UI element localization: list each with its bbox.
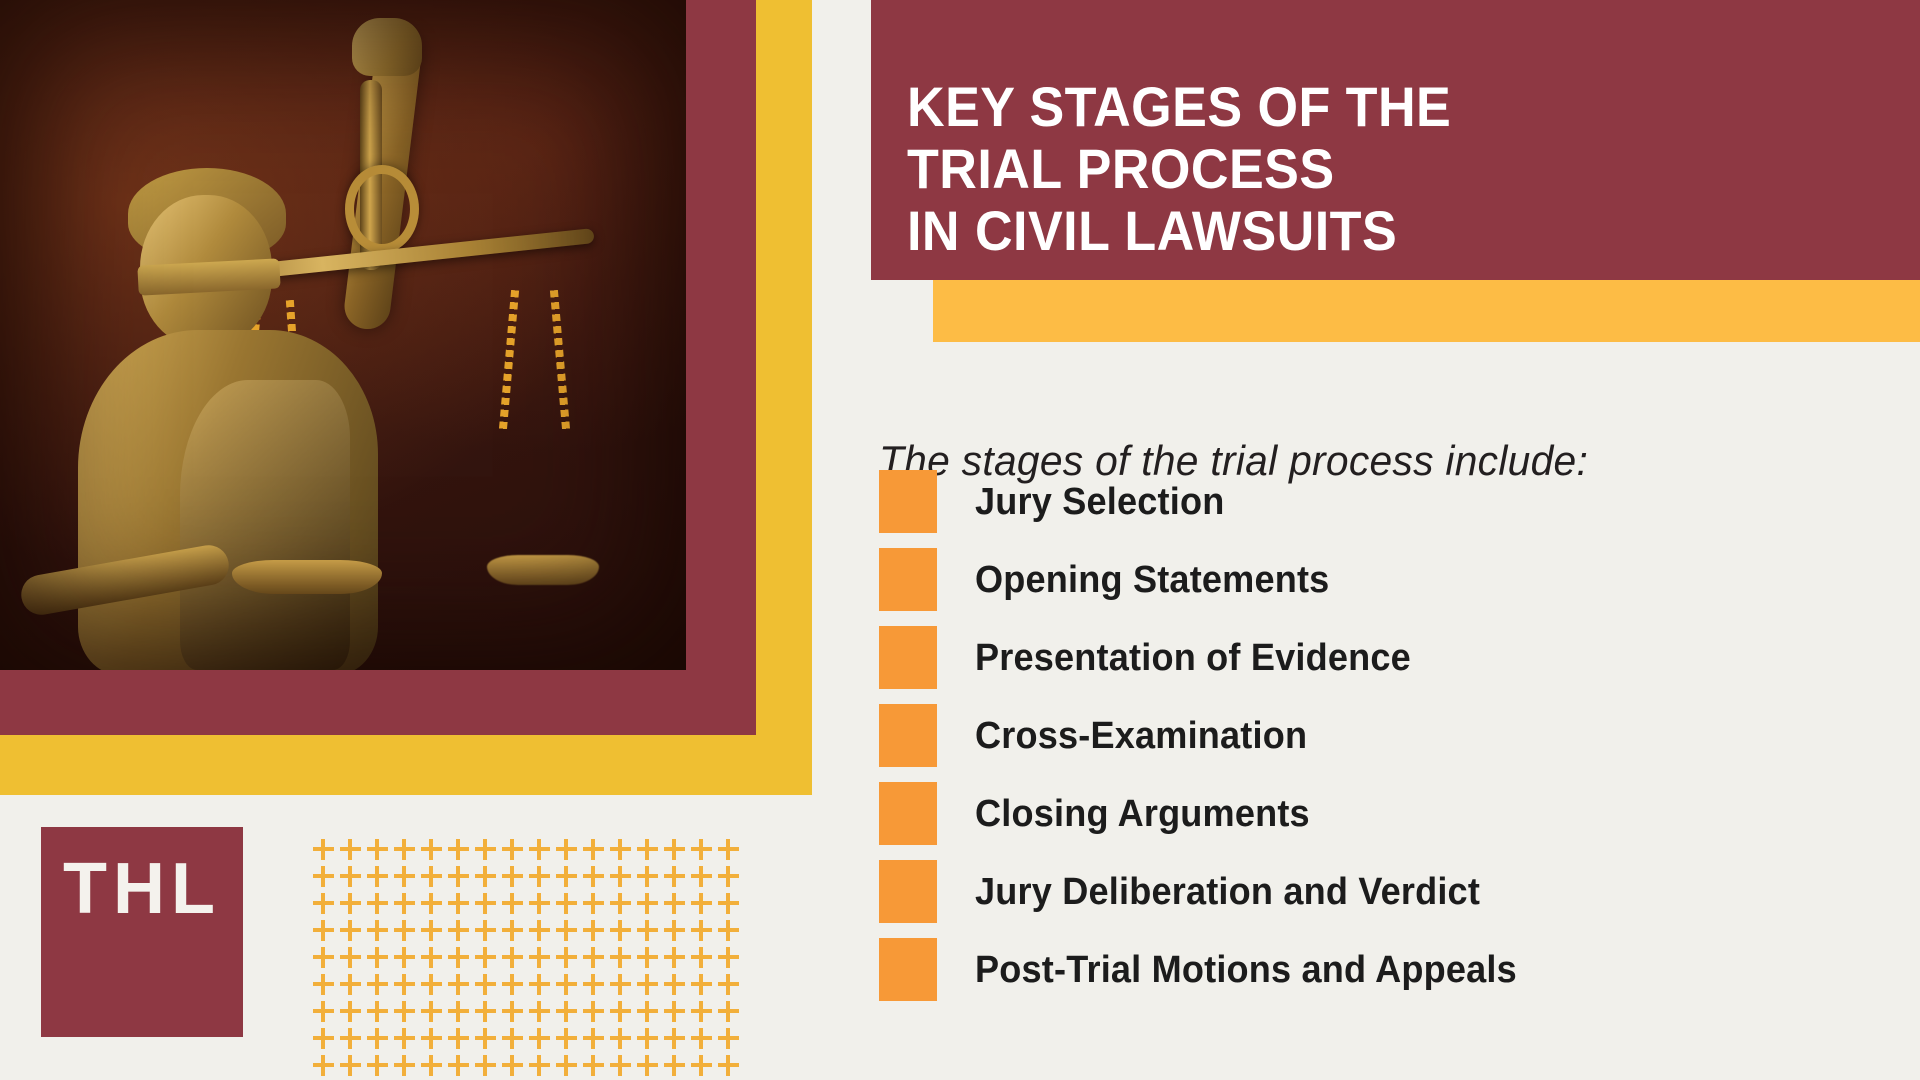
list-item: Cross-Examination bbox=[879, 704, 1889, 767]
plus-icon bbox=[609, 838, 636, 865]
plus-icon bbox=[636, 1027, 663, 1054]
plus-icon bbox=[447, 1054, 474, 1080]
plus-icon bbox=[312, 973, 339, 1000]
plus-icon bbox=[312, 838, 339, 865]
plus-icon bbox=[609, 1027, 636, 1054]
plus-icon bbox=[717, 1054, 744, 1080]
plus-icon bbox=[555, 1027, 582, 1054]
plus-icon bbox=[528, 892, 555, 919]
bullet-square-icon bbox=[879, 548, 937, 611]
bullet-square-icon bbox=[879, 470, 937, 533]
plus-icon bbox=[582, 919, 609, 946]
plus-icon bbox=[366, 838, 393, 865]
bullet-square-icon bbox=[879, 626, 937, 689]
plus-icon bbox=[528, 1054, 555, 1080]
bullet-square-icon bbox=[879, 938, 937, 1001]
plus-icon bbox=[339, 1054, 366, 1080]
plus-icon bbox=[339, 946, 366, 973]
plus-icon bbox=[528, 946, 555, 973]
list-item-label: Jury Deliberation and Verdict bbox=[975, 873, 1480, 911]
plus-icon bbox=[555, 919, 582, 946]
plus-icon bbox=[555, 1000, 582, 1027]
page-title-line-1: KEY STAGES OF THE bbox=[907, 76, 1837, 138]
list-item: Jury Selection bbox=[879, 470, 1889, 533]
plus-icon bbox=[690, 892, 717, 919]
list-item-label: Jury Selection bbox=[975, 483, 1224, 521]
page-title-line-2: TRIAL PROCESS bbox=[907, 138, 1837, 200]
plus-icon bbox=[393, 973, 420, 1000]
plus-icon bbox=[339, 838, 366, 865]
plus-icon bbox=[636, 946, 663, 973]
plus-icon bbox=[474, 1000, 501, 1027]
plus-icon bbox=[447, 973, 474, 1000]
plus-icon bbox=[312, 892, 339, 919]
plus-icon bbox=[474, 838, 501, 865]
plus-icon bbox=[690, 838, 717, 865]
plus-icon bbox=[501, 946, 528, 973]
plus-icon bbox=[474, 973, 501, 1000]
plus-icon bbox=[420, 919, 447, 946]
plus-icon bbox=[663, 919, 690, 946]
plus-icon bbox=[366, 1054, 393, 1080]
plus-icon bbox=[663, 1054, 690, 1080]
plus-icon bbox=[420, 1054, 447, 1080]
plus-icon bbox=[312, 946, 339, 973]
plus-icon bbox=[609, 865, 636, 892]
plus-icon bbox=[366, 946, 393, 973]
plus-icon bbox=[717, 919, 744, 946]
plus-icon bbox=[447, 1000, 474, 1027]
plus-icon bbox=[528, 973, 555, 1000]
plus-icon bbox=[528, 1027, 555, 1054]
thl-logo[interactable]: THL bbox=[41, 827, 243, 1037]
page-title: KEY STAGES OF THE TRIAL PROCESS IN CIVIL… bbox=[907, 76, 1837, 262]
plus-icon bbox=[339, 1000, 366, 1027]
plus-icon bbox=[366, 1000, 393, 1027]
plus-icon bbox=[717, 1000, 744, 1027]
list-item-label: Presentation of Evidence bbox=[975, 639, 1411, 677]
list-item-label: Cross-Examination bbox=[975, 717, 1307, 755]
page-title-line-3: IN CIVIL LAWSUITS bbox=[907, 200, 1837, 262]
plus-icon bbox=[312, 1000, 339, 1027]
plus-icon bbox=[636, 865, 663, 892]
plus-icon bbox=[582, 1054, 609, 1080]
plus-icon bbox=[717, 973, 744, 1000]
plus-icon bbox=[366, 973, 393, 1000]
plus-icon bbox=[717, 892, 744, 919]
plus-icon bbox=[690, 1054, 717, 1080]
plus-icon bbox=[420, 838, 447, 865]
plus-icon bbox=[447, 946, 474, 973]
list-item: Jury Deliberation and Verdict bbox=[879, 860, 1889, 923]
plus-icon bbox=[528, 838, 555, 865]
plus-icon bbox=[663, 838, 690, 865]
plus-icon bbox=[447, 1027, 474, 1054]
plus-icon bbox=[501, 1054, 528, 1080]
list-item-label: Closing Arguments bbox=[975, 795, 1310, 833]
plus-icon bbox=[474, 919, 501, 946]
plus-icon bbox=[582, 865, 609, 892]
plus-icon bbox=[393, 919, 420, 946]
plus-icon bbox=[582, 838, 609, 865]
plus-icon bbox=[393, 1054, 420, 1080]
plus-icon bbox=[420, 1027, 447, 1054]
plus-icon bbox=[501, 973, 528, 1000]
plus-icon bbox=[555, 946, 582, 973]
plus-icon bbox=[501, 919, 528, 946]
plus-icon bbox=[420, 946, 447, 973]
plus-icon bbox=[393, 946, 420, 973]
plus-icon bbox=[609, 892, 636, 919]
plus-icon bbox=[312, 865, 339, 892]
plus-icon bbox=[609, 919, 636, 946]
plus-icon bbox=[636, 892, 663, 919]
plus-icon bbox=[474, 1027, 501, 1054]
plus-icon bbox=[690, 865, 717, 892]
plus-icon bbox=[717, 838, 744, 865]
plus-icon bbox=[717, 1027, 744, 1054]
plus-icon bbox=[609, 1054, 636, 1080]
plus-icon bbox=[609, 946, 636, 973]
plus-icon bbox=[582, 1000, 609, 1027]
plus-icon bbox=[690, 946, 717, 973]
plus-icon bbox=[528, 919, 555, 946]
list-item: Post-Trial Motions and Appeals bbox=[879, 938, 1889, 1001]
plus-icon bbox=[339, 1027, 366, 1054]
plus-icon bbox=[663, 946, 690, 973]
list-item: Closing Arguments bbox=[879, 782, 1889, 845]
plus-icon bbox=[690, 973, 717, 1000]
plus-icon bbox=[636, 973, 663, 1000]
plus-icon bbox=[447, 892, 474, 919]
plus-icon bbox=[366, 919, 393, 946]
plus-icon bbox=[663, 892, 690, 919]
plus-icon bbox=[420, 973, 447, 1000]
plus-icon bbox=[663, 973, 690, 1000]
plus-icon bbox=[582, 973, 609, 1000]
plus-icon bbox=[366, 892, 393, 919]
plus-icon bbox=[636, 919, 663, 946]
plus-icon bbox=[582, 946, 609, 973]
plus-icon bbox=[339, 892, 366, 919]
thl-logo-text: THL bbox=[63, 853, 221, 925]
list-item-label: Opening Statements bbox=[975, 561, 1329, 599]
plus-icon bbox=[474, 1054, 501, 1080]
lady-justice-photo bbox=[0, 0, 686, 670]
plus-icon bbox=[501, 865, 528, 892]
plus-icon bbox=[366, 1027, 393, 1054]
plus-icon bbox=[663, 1000, 690, 1027]
plus-icon bbox=[501, 892, 528, 919]
plus-icon bbox=[528, 865, 555, 892]
plus-icon bbox=[339, 973, 366, 1000]
plus-icon bbox=[312, 919, 339, 946]
plus-icon bbox=[447, 919, 474, 946]
plus-icon bbox=[393, 865, 420, 892]
plus-icon bbox=[555, 973, 582, 1000]
list-item-label: Post-Trial Motions and Appeals bbox=[975, 951, 1517, 989]
header-accent-bar bbox=[933, 280, 1920, 342]
list-item: Opening Statements bbox=[879, 548, 1889, 611]
plus-icon bbox=[690, 919, 717, 946]
plus-icon bbox=[609, 1000, 636, 1027]
stages-list: Jury Selection Opening Statements Presen… bbox=[879, 470, 1889, 1016]
plus-icon bbox=[393, 838, 420, 865]
plus-icon bbox=[474, 865, 501, 892]
plus-icon bbox=[555, 838, 582, 865]
plus-icon bbox=[690, 1000, 717, 1027]
plus-icon bbox=[312, 1027, 339, 1054]
plus-icon bbox=[393, 1000, 420, 1027]
plus-icon bbox=[501, 1027, 528, 1054]
plus-icon bbox=[474, 946, 501, 973]
plus-icon bbox=[555, 865, 582, 892]
plus-icon bbox=[582, 1027, 609, 1054]
plus-icon bbox=[717, 946, 744, 973]
plus-icon bbox=[528, 1000, 555, 1027]
plus-icon bbox=[501, 1000, 528, 1027]
plus-icon bbox=[339, 919, 366, 946]
plus-icon bbox=[447, 865, 474, 892]
plus-icon bbox=[663, 865, 690, 892]
list-item: Presentation of Evidence bbox=[879, 626, 1889, 689]
plus-icon bbox=[447, 838, 474, 865]
plus-icon bbox=[339, 865, 366, 892]
plus-icon bbox=[366, 865, 393, 892]
infographic-canvas: THL KEY STAGES OF THE TRIAL PROCESS IN C… bbox=[0, 0, 1920, 1080]
plus-icon bbox=[393, 892, 420, 919]
plus-icon bbox=[312, 1054, 339, 1080]
plus-icon bbox=[555, 892, 582, 919]
plus-pattern-decoration bbox=[312, 838, 772, 1078]
plus-icon bbox=[636, 838, 663, 865]
plus-icon bbox=[420, 865, 447, 892]
plus-icon bbox=[393, 1027, 420, 1054]
plus-icon bbox=[690, 1027, 717, 1054]
plus-icon bbox=[501, 838, 528, 865]
plus-icon bbox=[555, 1054, 582, 1080]
bullet-square-icon bbox=[879, 860, 937, 923]
plus-icon bbox=[582, 892, 609, 919]
photo-vignette bbox=[0, 0, 686, 670]
plus-icon bbox=[663, 1027, 690, 1054]
plus-icon bbox=[474, 892, 501, 919]
plus-icon bbox=[420, 892, 447, 919]
bullet-square-icon bbox=[879, 782, 937, 845]
plus-icon bbox=[636, 1000, 663, 1027]
plus-icon bbox=[609, 973, 636, 1000]
plus-icon bbox=[717, 865, 744, 892]
plus-icon bbox=[636, 1054, 663, 1080]
bullet-square-icon bbox=[879, 704, 937, 767]
plus-icon bbox=[420, 1000, 447, 1027]
